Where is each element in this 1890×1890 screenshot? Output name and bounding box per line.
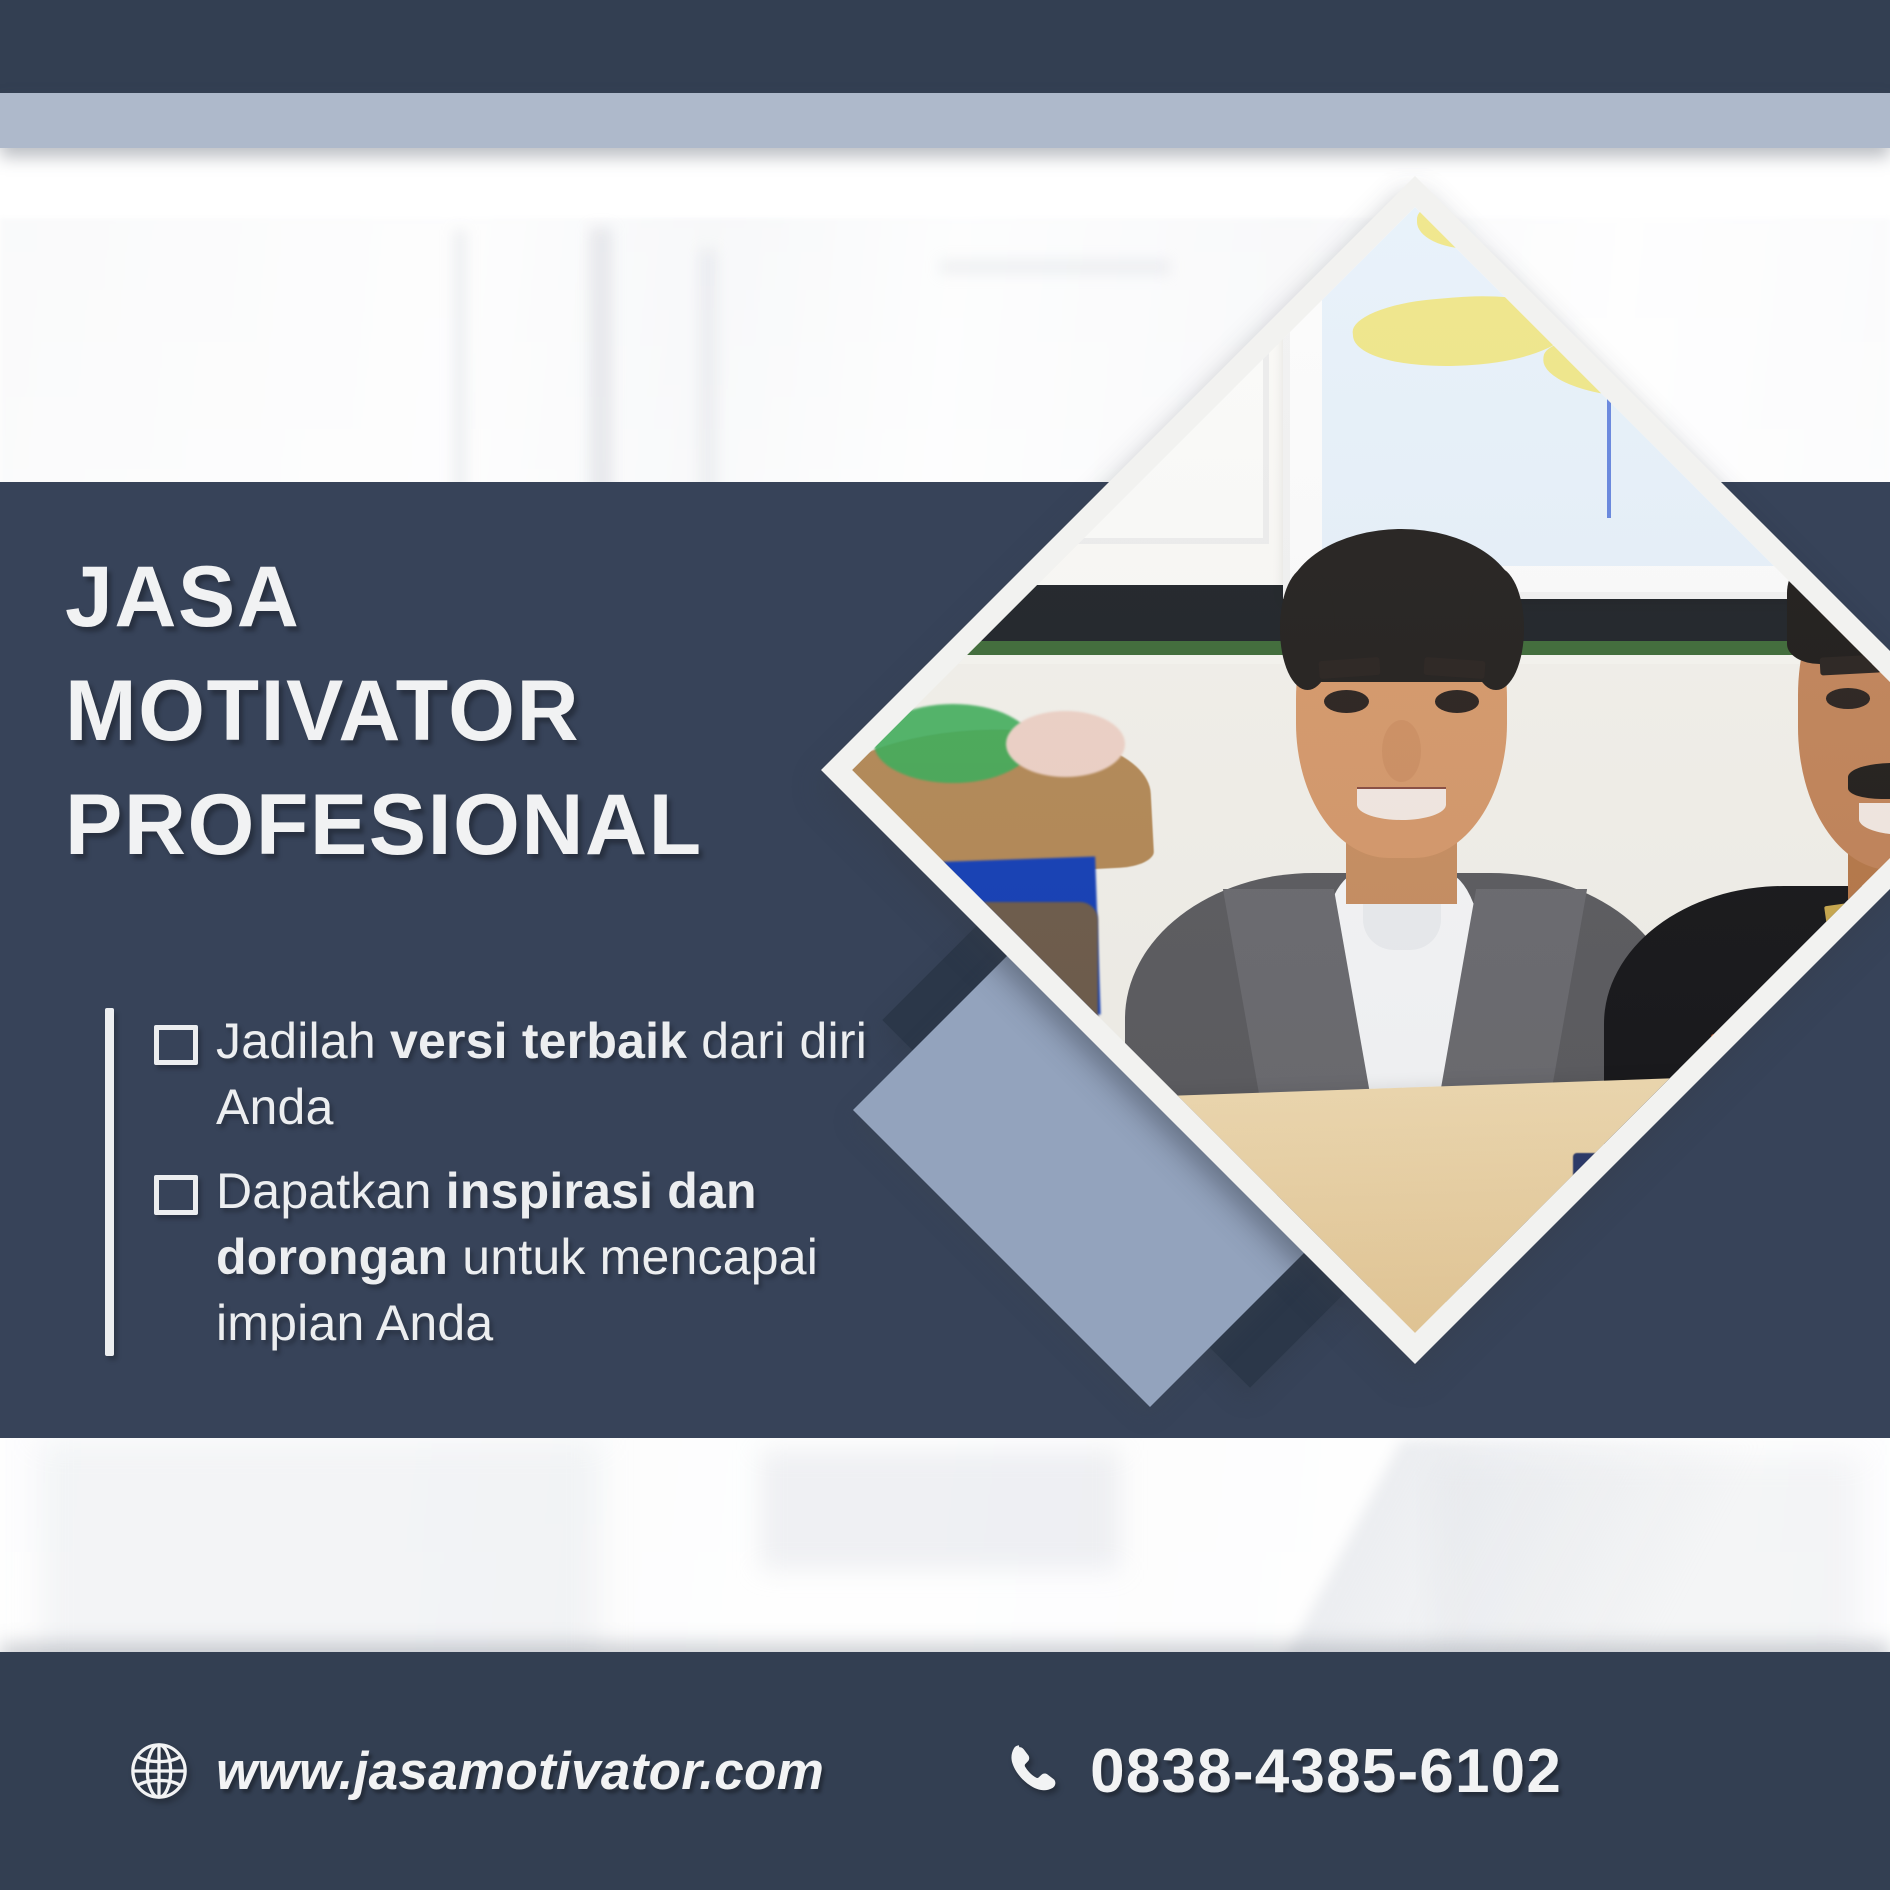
top-light-band [0,93,1890,148]
water-bottle [1705,1060,1778,1271]
vertical-accent-rule [105,1008,114,1356]
phone-number[interactable]: 0838-4385-6102 [1090,1736,1562,1807]
headline-line-1: JASA [65,540,1065,654]
top-dark-band [0,0,1890,93]
batik-tumbler [1573,1153,1705,1333]
list-item-text: Jadilah versi terbaik dari diri Anda [216,1008,945,1140]
phone-contact[interactable]: 0838-4385-6102 [1002,1736,1562,1807]
headline-line-2: MOTIVATOR [65,654,1065,768]
background-streak [40,1440,600,1680]
checkbox-square-icon [154,1025,198,1065]
contact-footer: www.jasamotivator.com 0838-4385-6102 [0,1652,1890,1890]
globe-icon [128,1740,190,1802]
white-cup [1811,1166,1890,1311]
phone-icon [1002,1740,1064,1802]
headline-line-3: PROFESIONAL [65,768,1065,882]
list-item: Jadilah versi terbaik dari diri Anda [154,1008,945,1140]
list-item: Dapatkan inspirasi dan dorongan untuk me… [154,1158,945,1356]
benefits-list: Jadilah versi terbaik dari diri Anda Dap… [105,1008,945,1356]
website-url[interactable]: www.jasamotivator.com [216,1741,824,1802]
list-item-text: Dapatkan inspirasi dan dorongan untuk me… [216,1158,945,1356]
checkbox-square-icon [154,1175,198,1215]
poster-canvas: JASA MOTIVATOR PROFESIONAL Jadilah versi… [0,0,1890,1890]
page-title: JASA MOTIVATOR PROFESIONAL [65,540,1065,882]
website-contact[interactable]: www.jasamotivator.com [128,1740,824,1802]
